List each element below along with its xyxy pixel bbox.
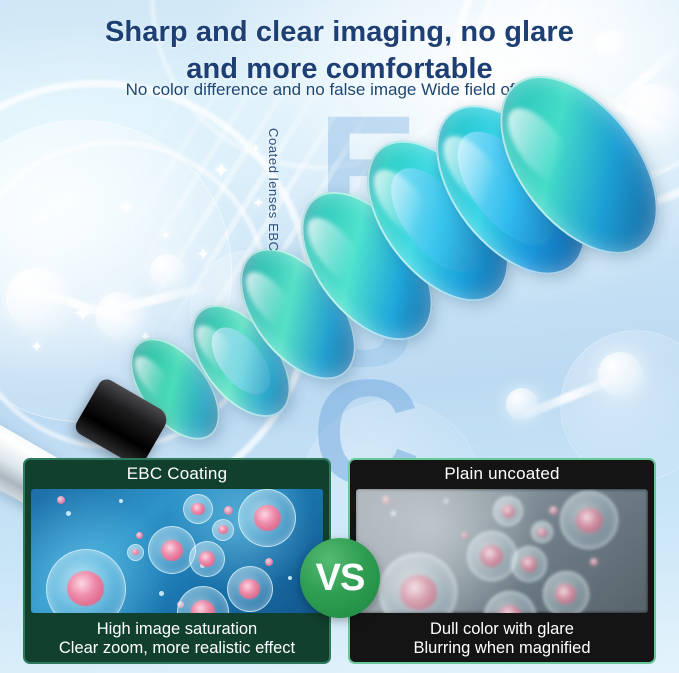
cell-blob: [531, 521, 553, 543]
page-title: Sharp and clear imaging, no glare and mo…: [0, 14, 679, 88]
coated-lenses-label: Coated lenses EBC: [266, 128, 281, 252]
caption-line-2: Clear zoom, more realistic effect: [25, 639, 329, 658]
panel-header-ebc: EBC Coating: [25, 460, 329, 488]
molecule-node: [6, 268, 68, 330]
caption-line-1: High image saturation: [25, 620, 329, 639]
cell-blob: [467, 531, 517, 581]
cell-blob: [511, 546, 547, 582]
cell-blob: [484, 591, 536, 613]
comparison-panel-uncoated: Plain uncoated: [348, 458, 656, 664]
panel-header-uncoated: Plain uncoated: [350, 460, 654, 488]
cell-blob: [227, 566, 273, 612]
cell-blob: [560, 491, 618, 549]
product-feature-banner: ✦ ✦ ✦ ✦ ✦ ✦ ✦ ✦ ✦ ✦ ✦ E B C Sharp and cl…: [0, 0, 679, 673]
cell-blob: [493, 496, 523, 526]
cell-blob: [189, 541, 225, 577]
cell-blob: [127, 544, 144, 561]
sample-photo-coated: [31, 489, 323, 613]
sample-photo-uncoated: [356, 489, 648, 613]
cell-blob: [543, 571, 589, 613]
vs-badge: VS: [300, 538, 380, 618]
cell-blob: [238, 489, 296, 547]
panel-caption-uncoated: Dull color with glare Blurring when magn…: [350, 613, 654, 659]
sparkle-icon: ✦: [72, 300, 94, 326]
molecule-node: [598, 352, 642, 396]
title-line-1: Sharp and clear imaging, no glare: [0, 14, 679, 51]
cell-blob: [379, 553, 457, 613]
molecule-node: [506, 388, 538, 420]
caption-line-1: Dull color with glare: [350, 620, 654, 639]
cell-blob: [212, 519, 234, 541]
panel-caption-ebc: High image saturation Clear zoom, more r…: [25, 613, 329, 659]
cell-blob: [148, 526, 196, 574]
cell-blob: [183, 494, 213, 524]
caption-line-2: Blurring when magnified: [350, 639, 654, 658]
sparkle-icon: ✦: [36, 212, 49, 227]
molecule-bond: [20, 282, 137, 328]
sparkle-icon: ✦: [30, 340, 43, 356]
molecule-bond: [522, 374, 618, 420]
comparison-panel-ebc: EBC Coating High image saturatio: [23, 458, 331, 664]
